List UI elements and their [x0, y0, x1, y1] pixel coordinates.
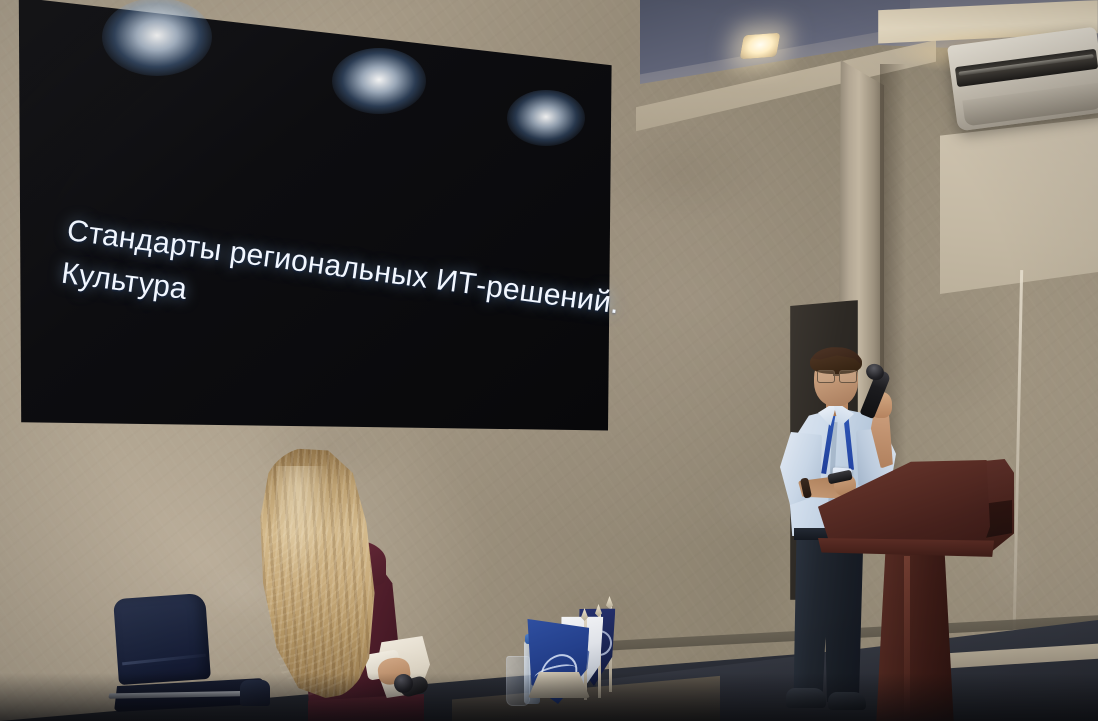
air-conditioner-unit — [947, 27, 1098, 132]
podium — [818, 452, 1013, 721]
chair-backrest — [113, 593, 211, 685]
ceiling-downlight-icon — [740, 33, 781, 59]
chair-armrest — [240, 680, 270, 706]
glasses-icon — [816, 370, 858, 381]
podium-stem — [876, 552, 954, 721]
podium-stem-highlight — [904, 556, 910, 721]
glasses-lens-right — [839, 370, 857, 383]
conference-presentation-photo: Стандарты региональных ИТ-решений. Культ… — [0, 0, 1098, 721]
podium-top — [818, 460, 990, 550]
microphone-head-seated — [394, 674, 413, 693]
conference-chair[interactable] — [108, 594, 270, 721]
glasses-bridge — [833, 374, 840, 376]
glasses-lens-left — [817, 370, 835, 383]
video-wall[interactable]: Стандарты региональных ИТ-решений. Культ… — [14, 0, 614, 444]
seated-person-hair-highlight — [276, 466, 330, 586]
